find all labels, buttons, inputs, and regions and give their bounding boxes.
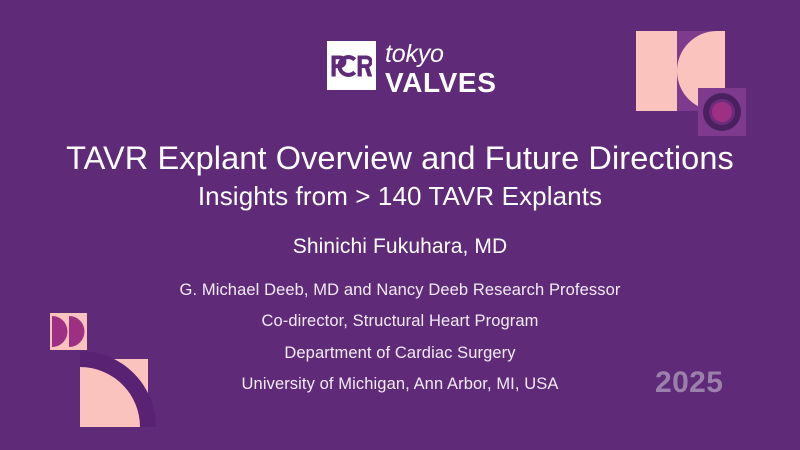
slide-text-block: TAVR Explant Overview and Future Directi…	[0, 140, 800, 400]
slide-subtitle: Insights from > 140 TAVR Explants	[0, 181, 800, 212]
year-label: 2025	[655, 368, 723, 398]
pcr-logo-mark	[327, 41, 376, 90]
affiliation-line: Department of Cardiac Surgery	[0, 337, 800, 369]
affiliation-line: Co-director, Structural Heart Program	[0, 306, 800, 338]
affiliation-line: G. Michael Deeb, MD and Nancy Deeb Resea…	[0, 274, 800, 306]
pcr-tokyo-valves-logo: tokyo VALVES	[327, 41, 496, 97]
logo-text-tokyo: tokyo	[385, 42, 496, 68]
presenter-name: Shinichi Fukuhara, MD	[0, 234, 800, 259]
page-title: TAVR Explant Overview and Future Directi…	[0, 140, 800, 178]
logo-text-valves: VALVES	[385, 69, 496, 97]
presentation-slide: tokyo VALVES	[0, 0, 800, 450]
logo-wordmark: tokyo VALVES	[385, 41, 496, 97]
top-right-decorative-shapes	[636, 31, 748, 136]
